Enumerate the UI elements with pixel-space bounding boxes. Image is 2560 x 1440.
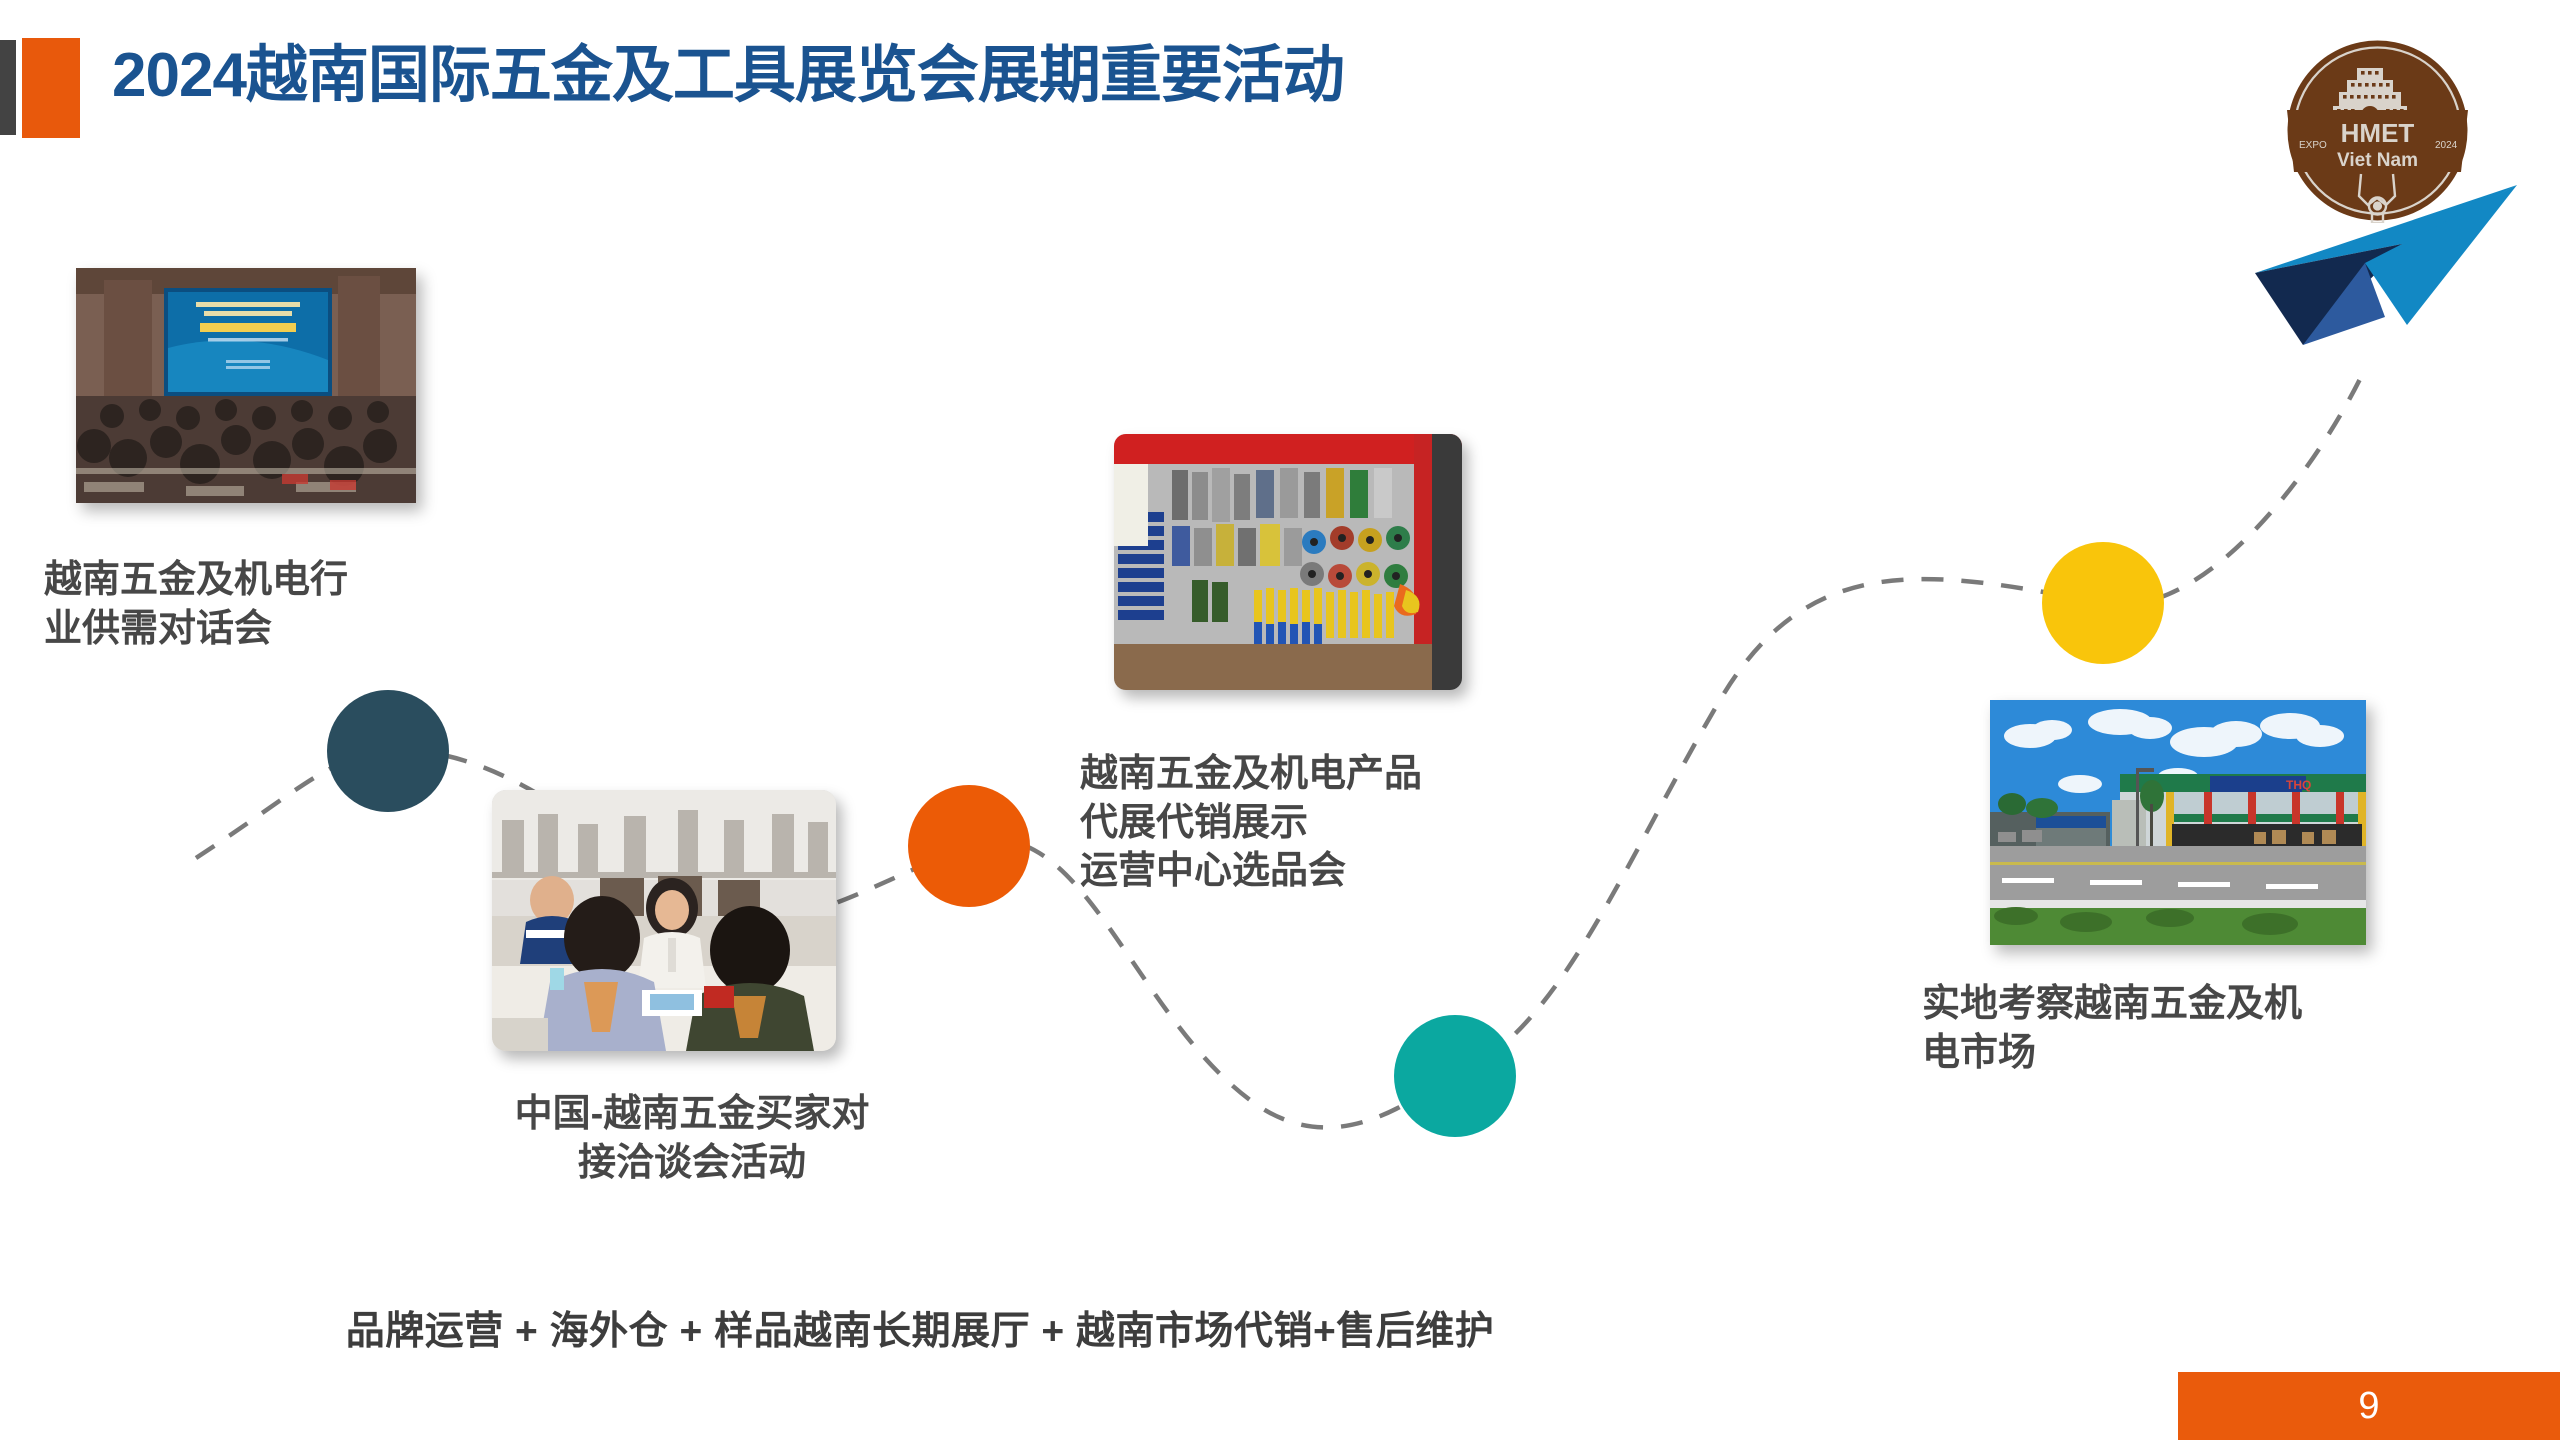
node-label-1: 越南五金及机电行 业供需对话会 xyxy=(44,556,348,653)
node-circle-3[interactable] xyxy=(1394,1015,1516,1137)
svg-text:THQ: THQ xyxy=(2286,778,2311,792)
photo-conference-hall xyxy=(76,268,416,503)
node-label-4: 实地考察越南五金及机 电市场 xyxy=(1922,980,2302,1077)
logo-country-text: Viet Nam xyxy=(2337,150,2418,171)
slide-canvas: 2024越南国际五金及工具展览会展期重要活动 xyxy=(0,0,2560,1440)
photo-hardware-store xyxy=(1114,434,1462,690)
bottom-caption: 品牌运营 + 海外仓 + 样品越南长期展厅 + 越南市场代销+售后维护 xyxy=(0,1300,1840,1356)
paper-plane-icon xyxy=(2255,185,2555,360)
node-circle-4[interactable] xyxy=(2042,542,2164,664)
title-accent-bar-gray xyxy=(0,40,16,135)
photo-market-building: THQ xyxy=(1990,700,2366,945)
logo-year-text: 2024 xyxy=(2435,140,2458,151)
title-accent-bar-orange xyxy=(22,38,80,138)
node-circle-2[interactable] xyxy=(908,785,1030,907)
node-label-3: 越南五金及机电产品 代展代销展示 运营中心选品会 xyxy=(1080,750,1422,896)
page-title: 2024越南国际五金及工具展览会展期重要活动 xyxy=(112,42,1344,110)
photo-business-meeting xyxy=(492,790,836,1051)
logo-name-text: HMET xyxy=(2341,118,2415,148)
node-circle-1[interactable] xyxy=(327,690,449,812)
node-label-2: 中国-越南五金买家对 接洽谈会活动 xyxy=(452,1090,932,1187)
logo-expo-text: EXPO xyxy=(2299,140,2327,151)
page-number: 9 xyxy=(2178,1372,2560,1440)
